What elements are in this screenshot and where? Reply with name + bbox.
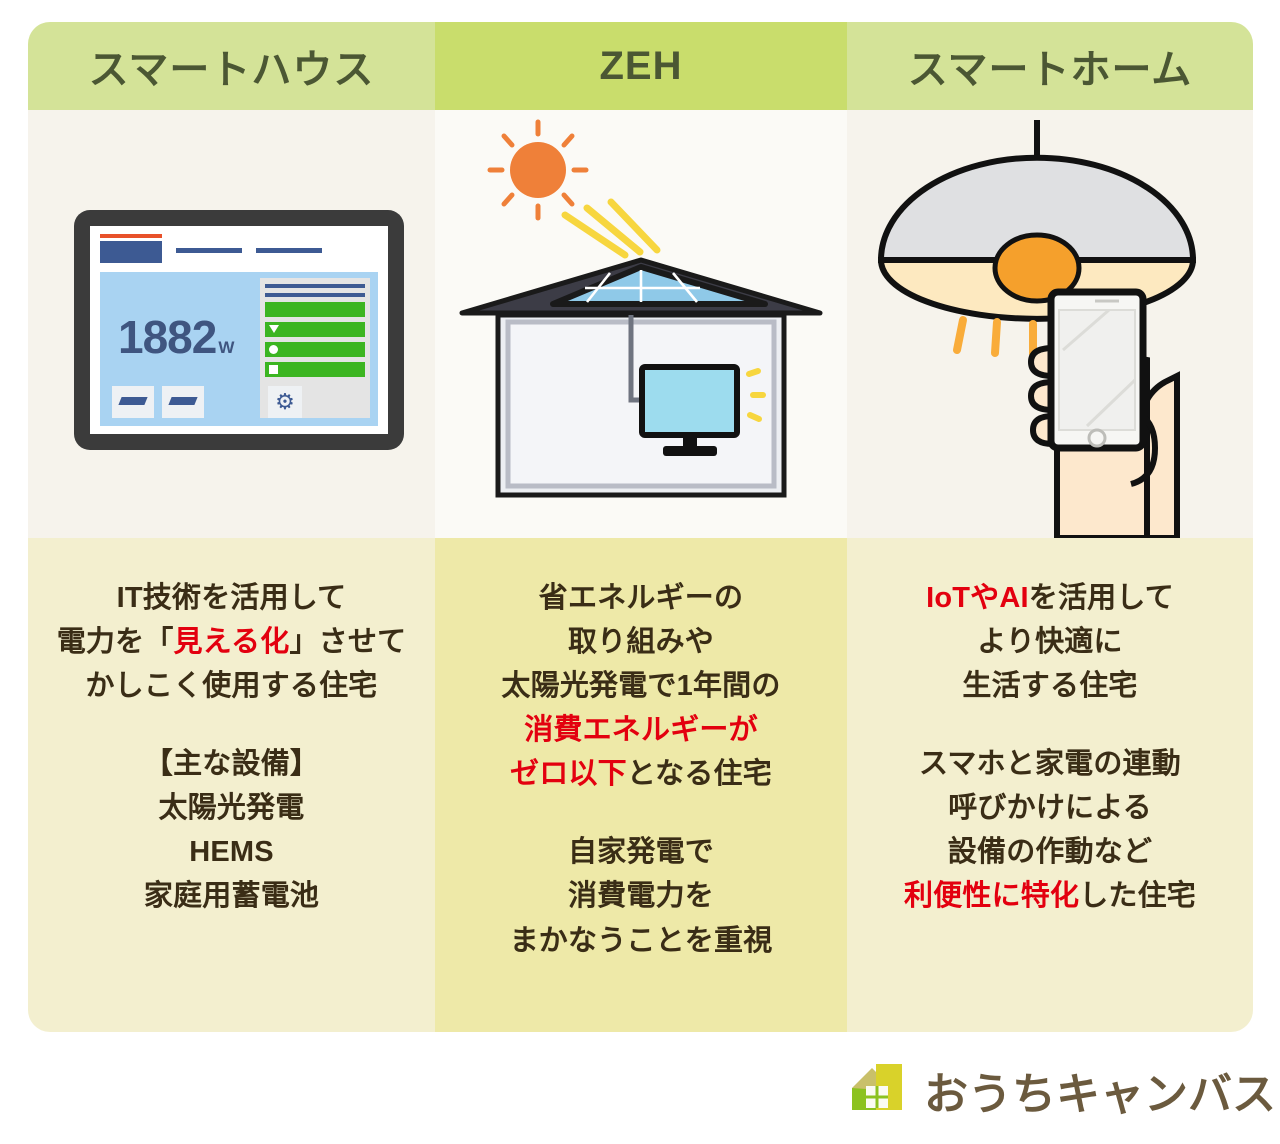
description-line: 太陽光発電 — [42, 786, 421, 830]
description-block: 【主な設備】太陽光発電HEMS家庭用蓄電池 — [42, 742, 421, 918]
status-bar — [265, 302, 365, 317]
description-line: 消費電力を — [449, 874, 833, 918]
description-line: まかなうことを重視 — [449, 919, 833, 963]
description-line: 生活する住宅 — [861, 664, 1239, 708]
plain-text: した住宅 — [1079, 880, 1196, 912]
description-block: IT技術を活用して電力を「見える化」させてかしこく使用する住宅 — [42, 576, 421, 708]
plain-text: 消費電力を — [568, 880, 714, 912]
sun-rays — [565, 202, 657, 255]
comparison-panel: スマートハウス — [28, 22, 1253, 1032]
square-icon — [269, 365, 278, 374]
solar-panel-icon — [168, 397, 197, 405]
description-line: ゼロ以下となる住宅 — [449, 752, 833, 796]
smart-home-svg — [847, 110, 1253, 538]
description-zeh: 省エネルギーの取り組みや太陽光発電で1年間の消費エネルギーがゼロ以下となる住宅自… — [435, 538, 847, 1032]
plain-text: IT技術を活用して — [117, 582, 347, 614]
description-line: 消費エネルギーが — [449, 708, 833, 752]
list-divider — [265, 284, 365, 288]
description-line: 設備の作動など — [861, 830, 1239, 874]
description-line: 太陽光発電で1年間の — [449, 664, 833, 708]
monitor-display: 1882W ⚙ — [100, 272, 378, 426]
description-line: 呼びかけによる — [861, 786, 1239, 830]
monitor-menu-dash-1 — [176, 248, 242, 253]
description-line: 電力を「見える化」させて — [42, 620, 421, 664]
infographic-page: スマートハウス — [0, 0, 1280, 1144]
plain-text: 取り組みや — [568, 626, 714, 658]
plain-text: スマホと家電の連動 — [919, 748, 1181, 780]
plain-text: 太陽光発電 — [158, 792, 304, 824]
column-header-smart-house: スマートハウス — [28, 22, 435, 110]
settings-button: ⚙ — [268, 386, 302, 418]
plain-text: かしこく使用する住宅 — [85, 670, 377, 702]
plain-text: 自家発電で — [568, 836, 714, 868]
column-zeh: ZEH — [435, 22, 847, 1032]
description-block: IoTやAIを活用してより快適に生活する住宅 — [861, 576, 1239, 708]
plain-text: 省エネルギーの — [539, 582, 743, 614]
plain-text: 家庭用蓄電池 — [144, 880, 319, 912]
description-line: 省エネルギーの — [449, 576, 833, 620]
monitor-reading-area: 1882W ⚙ — [100, 272, 260, 426]
highlighted-text: 消費エネルギーが — [524, 714, 758, 746]
highlighted-text: 見える化 — [174, 626, 290, 658]
panel-icon-2 — [162, 386, 204, 418]
plain-text: 設備の作動など — [948, 836, 1152, 868]
column-smart-house: スマートハウス — [28, 22, 435, 1032]
column-header-zeh: ZEH — [435, 22, 847, 110]
plain-text: 【主な設備】 — [144, 748, 319, 780]
description-block: 省エネルギーの取り組みや太陽光発電で1年間の消費エネルギーがゼロ以下となる住宅 — [449, 576, 833, 796]
tab-block — [100, 241, 162, 263]
monitor-active-tab — [100, 234, 162, 263]
description-block: 自家発電で消費電力をまかなうことを重視 — [449, 830, 833, 962]
description-line: 利便性に特化した住宅 — [861, 874, 1239, 918]
plain-text: 生活する住宅 — [962, 670, 1137, 702]
solar-panel-icon — [118, 397, 147, 405]
description-line: スマホと家電の連動 — [861, 742, 1239, 786]
highlighted-text: 利便性に特化 — [904, 880, 1079, 912]
gear-icon: ⚙ — [268, 390, 302, 414]
plain-text: を活用して — [1029, 582, 1174, 614]
zeh-svg — [435, 110, 847, 538]
brand-name: おうちキャンバス — [924, 1058, 1276, 1122]
status-bar — [265, 322, 365, 337]
description-smart-home: IoTやAIを活用してより快適に生活する住宅スマホと家電の連動呼びかけによる設備… — [847, 538, 1253, 1032]
highlighted-text: ゼロ以下 — [510, 758, 627, 790]
plain-text: 」させて — [289, 626, 406, 658]
sun-icon — [490, 122, 586, 218]
description-line: 自家発電で — [449, 830, 833, 874]
description-smart-house: IT技術を活用して電力を「見える化」させてかしこく使用する住宅【主な設備】太陽光… — [28, 538, 435, 1032]
column-header-smart-home: スマートホーム — [847, 22, 1253, 110]
house-icon — [846, 1058, 910, 1122]
panel-icon-1 — [112, 386, 154, 418]
highlighted-text: IoTやAI — [926, 582, 1029, 614]
description-line: 【主な設備】 — [42, 742, 421, 786]
description-line: HEMS — [42, 830, 421, 874]
power-unit: W — [218, 338, 233, 357]
plain-text: 呼びかけによる — [948, 792, 1152, 824]
plain-text: 太陽光発電で1年間の — [501, 670, 780, 702]
power-reading: 1882W — [118, 310, 233, 364]
monitor-topbar — [100, 234, 378, 268]
description-line: かしこく使用する住宅 — [42, 664, 421, 708]
description-block: スマホと家電の連動呼びかけによる設備の作動など利便性に特化した住宅 — [861, 742, 1239, 918]
description-line: IoTやAIを活用して — [861, 576, 1239, 620]
power-value: 1882 — [118, 311, 216, 363]
illustration-lamp-smartphone — [847, 110, 1253, 538]
description-line: IT技術を活用して — [42, 576, 421, 620]
description-line: より快適に — [861, 620, 1239, 664]
tab-underline — [100, 234, 162, 238]
illustration-hems-monitor: 1882W ⚙ — [28, 110, 435, 538]
status-bar — [265, 362, 365, 377]
plain-text: 電力を「 — [57, 626, 174, 658]
plain-text: まかなうことを重視 — [510, 925, 773, 957]
plain-text: より快適に — [977, 626, 1122, 658]
monitor-menu-dash-2 — [256, 248, 322, 253]
status-bar — [265, 342, 365, 357]
column-smart-home: スマートホーム — [847, 22, 1253, 1032]
description-line: 家庭用蓄電池 — [42, 874, 421, 918]
brand-logo: おうちキャンバス — [846, 1052, 1276, 1128]
monitor-screen-frame: 1882W ⚙ — [90, 226, 388, 434]
monitor-button-row — [112, 386, 204, 418]
hems-monitor-device: 1882W ⚙ — [74, 210, 404, 450]
illustration-zeh-house — [435, 110, 847, 538]
smartphone-icon — [1051, 292, 1143, 448]
list-divider — [265, 293, 365, 297]
plain-text: となる住宅 — [627, 758, 772, 790]
circle-icon — [269, 345, 278, 354]
plain-text: HEMS — [189, 836, 274, 868]
description-line: 取り組みや — [449, 620, 833, 664]
triangle-icon — [269, 325, 279, 333]
